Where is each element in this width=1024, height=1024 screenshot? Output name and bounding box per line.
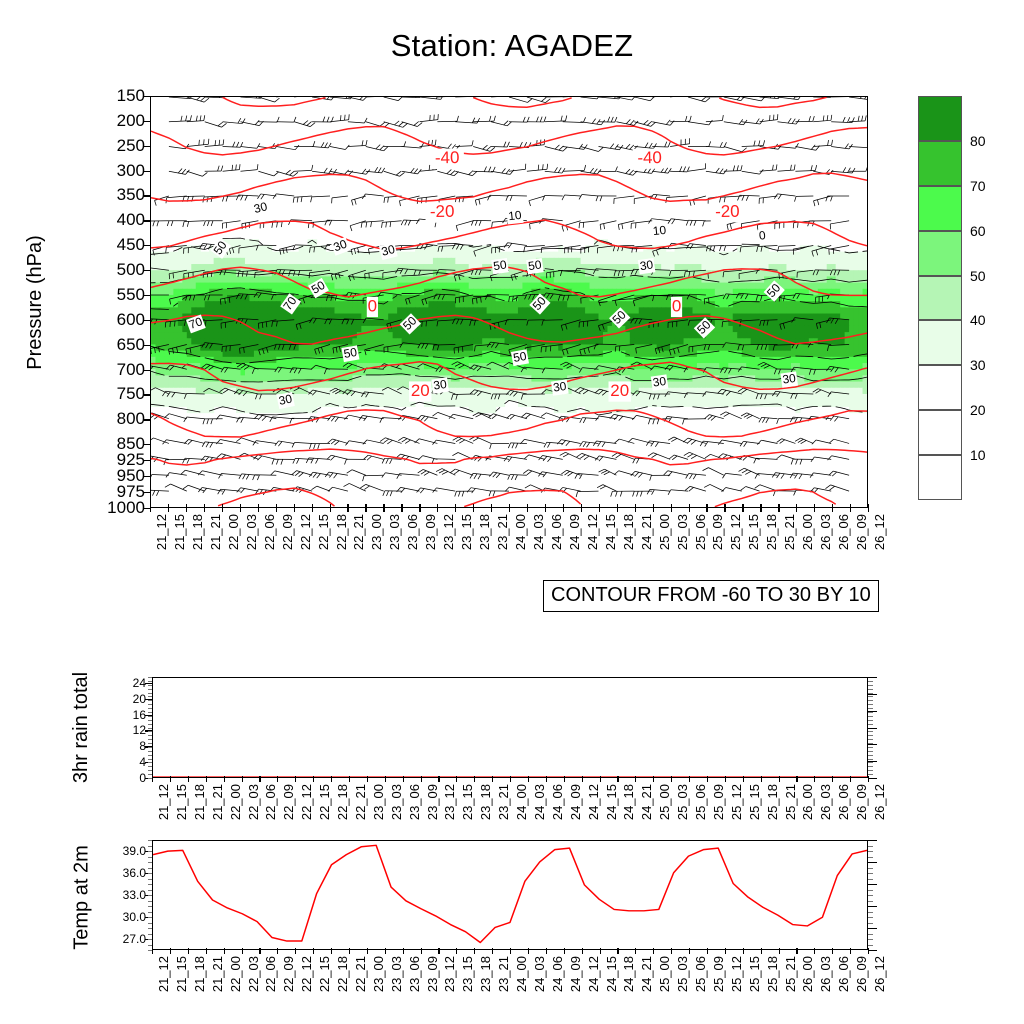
sub-xtick-mark [743, 948, 744, 954]
sub-minor-tick [148, 851, 152, 852]
xtick-label: 24_03 [532, 784, 547, 820]
main-xtick-mark [383, 504, 384, 512]
sub-xtick-mark [761, 948, 762, 954]
sub-xtick-mark [224, 948, 225, 954]
colorbar-band[interactable] [918, 96, 962, 141]
xtick-label: 25_03 [675, 784, 690, 820]
sub-xtick-mark [152, 948, 153, 954]
main-xtick-mark [742, 504, 743, 512]
xtick-label: 26_03 [818, 956, 833, 992]
xtick-label: 24_09 [568, 784, 583, 820]
xtick-label: 25_12 [728, 514, 743, 550]
xtick-label: 25_18 [765, 784, 780, 820]
xtick-label: 24_00 [514, 956, 529, 992]
main-xtick-mark [706, 504, 707, 512]
xtick-label: 24_15 [604, 956, 619, 992]
sub-minor-tick [148, 693, 152, 694]
main-xtick-mark [778, 504, 779, 512]
sub-xtick-mark [313, 948, 314, 954]
xtick-label: 26_09 [854, 956, 869, 992]
xtick-label: 24_03 [531, 514, 546, 550]
xtick-label: 22_03 [246, 956, 261, 992]
xtick-label: 23_09 [425, 784, 440, 820]
sub-xtick-mark [814, 776, 815, 782]
sub-minor-tick [148, 739, 152, 740]
sub-xtick-mark [725, 776, 726, 782]
sub-right-tick [868, 846, 873, 847]
sub-right-tick [868, 716, 873, 717]
sub-minor-tick [148, 708, 152, 709]
sub-minor-tick [148, 934, 152, 935]
xtick-label: 26_12 [872, 514, 887, 550]
sub-right-tick [868, 923, 873, 924]
xtick-label: 21_21 [208, 514, 223, 550]
main-xtick-mark [312, 504, 313, 512]
main-xtick-mark [419, 504, 420, 512]
main-xtick-mark [850, 504, 851, 512]
sub-right-tick [868, 912, 873, 913]
xtick-label: 25_21 [783, 956, 798, 992]
xtick-label: 26_00 [800, 784, 815, 820]
xtick-label: 22_12 [299, 956, 314, 992]
xtick-label: 21_15 [174, 956, 189, 992]
sub-minor-tick [148, 923, 152, 924]
sub-xtick-mark [528, 776, 529, 782]
sub-ytick-label: 8 [100, 739, 146, 753]
xtick-label: 25_21 [782, 514, 797, 550]
sub-right-tick [868, 840, 877, 841]
sub-xtick-mark [438, 948, 439, 954]
sub-minor-tick [148, 906, 152, 907]
sub-minor-tick [148, 766, 152, 767]
sub-xtick-mark [474, 776, 475, 782]
xtick-label: 25_15 [747, 956, 762, 992]
sub-right-tick [868, 728, 877, 729]
main-xtick-mark [671, 504, 672, 512]
sub-xtick-mark [689, 948, 690, 954]
sub-xtick-mark [796, 948, 797, 954]
main-ytick-mark [144, 444, 151, 445]
sub-minor-tick [148, 685, 152, 686]
main-xtick-mark [653, 504, 654, 512]
xtick-label: 24_09 [568, 956, 583, 992]
sub-minor-tick [148, 704, 152, 705]
sub-minor-tick [148, 747, 152, 748]
main-xtick-mark [491, 504, 492, 512]
main-ytick-mark [144, 195, 151, 196]
sub-right-tick [868, 759, 873, 760]
main-xtick-mark [760, 504, 761, 512]
sub-xtick-mark [295, 776, 296, 782]
colorbar-band[interactable] [918, 276, 962, 321]
sub-right-tick [868, 731, 873, 732]
sub-minor-tick [148, 728, 152, 729]
xtick-label: 23_09 [423, 514, 438, 550]
xtick-label: 23_06 [407, 784, 422, 820]
sub-xtick-mark [188, 948, 189, 954]
xtick-label: 23_03 [389, 784, 404, 820]
sub-minor-tick [148, 857, 152, 858]
main-xtick-mark [222, 504, 223, 512]
xtick-label: 25_03 [675, 514, 690, 550]
main-xtick-mark [240, 504, 241, 512]
xtick-label: 22_03 [246, 784, 261, 820]
xtick-label: 24_00 [514, 784, 529, 820]
xtick-label: 26_12 [872, 956, 887, 992]
sub-minor-tick [148, 720, 152, 721]
colorbar-band[interactable] [918, 186, 962, 231]
sub-minor-tick [148, 759, 152, 760]
sub-minor-tick [148, 743, 152, 744]
main-xtick-mark [689, 504, 690, 512]
sub-right-tick [868, 901, 873, 902]
colorbar[interactable]: 8070605040302010 [918, 96, 962, 500]
xtick-label: 24_12 [586, 956, 601, 992]
sub-right-tick [868, 884, 877, 885]
xtick-label: 25_18 [765, 956, 780, 992]
xtick-label: 22_06 [263, 784, 278, 820]
main-ytick-label: 550 [90, 285, 145, 305]
main-xtick-mark [150, 504, 151, 512]
colorbar-band[interactable] [918, 141, 962, 186]
xtick-label: 23_00 [369, 514, 384, 550]
xtick-label: 26_06 [836, 956, 851, 992]
sub-xtick-mark [367, 948, 368, 954]
xtick-label: 25_00 [657, 784, 672, 820]
sub-xtick-mark [367, 776, 368, 782]
sub-right-tick [868, 712, 873, 713]
sub-right-tick [868, 747, 873, 748]
colorbar-band[interactable] [918, 455, 962, 500]
xtick-label: 24_18 [621, 784, 636, 820]
main-ytick-mark [144, 419, 151, 420]
sub-xtick-mark [850, 776, 851, 782]
sub-right-tick [868, 857, 873, 858]
main-xtick-mark [796, 504, 797, 512]
sub-xtick-mark [546, 776, 547, 782]
sub-ytick-label: 0 [100, 771, 146, 785]
sub-xtick-mark [331, 948, 332, 954]
sub-minor-tick [148, 735, 152, 736]
main-ytick-mark [144, 476, 151, 477]
sub-right-tick [868, 762, 873, 763]
sub-xtick-mark [761, 776, 762, 782]
sub-right-tick [868, 685, 873, 686]
xtick-label: 24_03 [532, 956, 547, 992]
xtick-label: 23_12 [442, 784, 457, 820]
xtick-label: 23_18 [477, 514, 492, 550]
sub-minor-tick [148, 884, 152, 885]
sub-right-tick [868, 766, 873, 767]
xtick-label: 24_18 [621, 514, 636, 550]
xtick-label: 26_03 [818, 514, 833, 550]
sub-right-tick [868, 744, 877, 745]
main-ytick-label: 650 [90, 335, 145, 355]
xtick-label: 22_21 [351, 514, 366, 550]
sub-xtick-mark [832, 948, 833, 954]
main-ytick-mark [144, 320, 151, 321]
xtick-label: 22_12 [298, 514, 313, 550]
xtick-label: 21_12 [156, 956, 171, 992]
xtick-label: 24_00 [513, 514, 528, 550]
main-ytick-label: 400 [90, 210, 145, 230]
main-xtick-mark [724, 504, 725, 512]
main-ytick-label: 250 [90, 136, 145, 156]
colorbar-band[interactable] [918, 365, 962, 410]
main-xtick-mark [204, 504, 205, 512]
sub-minor-tick [148, 890, 152, 891]
sub-xtick-mark [313, 776, 314, 782]
xtick-label: 25_06 [693, 784, 708, 820]
sub-xtick-mark [206, 776, 207, 782]
sub-xtick-mark [403, 776, 404, 782]
cross-section-plot[interactable]: -40-40-20-200020201010030503030505030505… [150, 96, 868, 508]
xtick-label: 23_09 [425, 956, 440, 992]
sub-xtick-mark [170, 776, 171, 782]
sub-xtick-mark [564, 776, 565, 782]
xtick-label: 23_06 [407, 956, 422, 992]
xtick-label: 25_06 [693, 514, 708, 550]
sub-minor-tick [148, 873, 152, 874]
xtick-label: 24_21 [639, 956, 654, 992]
main-ytick-label: 350 [90, 185, 145, 205]
main-ytick-label: 500 [90, 260, 145, 280]
main-ytick-mark [144, 370, 151, 371]
sub-xtick-mark [385, 948, 386, 954]
temp-yaxis-label: Temp at 2m [71, 845, 94, 949]
sub-minor-tick [148, 862, 152, 863]
xtick-label: 25_15 [747, 784, 762, 820]
xtick-label: 26_03 [818, 784, 833, 820]
main-ytick-label: 700 [90, 360, 145, 380]
main-ytick-label: 150 [90, 86, 145, 106]
sub-xtick-mark [188, 776, 189, 782]
sub-right-tick [868, 724, 873, 725]
sub-right-tick [868, 917, 873, 918]
sub-minor-tick [148, 917, 152, 918]
sub-ytick-label: 36.0 [100, 866, 146, 880]
sub-ytick-label: 12 [100, 723, 146, 737]
sub-right-tick [868, 694, 877, 695]
sub-right-tick [868, 751, 873, 752]
temperature-canvas [153, 841, 867, 949]
xtick-label: 21_18 [192, 956, 207, 992]
xtick-label: 23_15 [460, 956, 475, 992]
main-xtick-mark [509, 504, 510, 512]
xtick-label: 23_12 [442, 956, 457, 992]
xtick-label: 21_12 [156, 784, 171, 820]
xtick-label: 23_06 [405, 514, 420, 550]
sub-xtick-mark [743, 776, 744, 782]
sub-xtick-mark [600, 776, 601, 782]
main-ytick-mark [144, 394, 151, 395]
xtick-label: 22_03 [244, 514, 259, 550]
xtick-label: 24_18 [621, 956, 636, 992]
temp-yaxis-title: Temp at 2m [70, 835, 94, 960]
main-ytick-mark [144, 121, 151, 122]
main-xtick-mark [455, 504, 456, 512]
sub-right-tick [868, 739, 873, 740]
sub-minor-tick [148, 751, 152, 752]
main-xtick-mark [563, 504, 564, 512]
sub-xtick-mark [474, 948, 475, 954]
colorbar-label: 80 [970, 133, 986, 149]
xtick-label: 23_15 [459, 514, 474, 550]
sub-minor-tick [148, 895, 152, 896]
sub-minor-tick [148, 712, 152, 713]
main-xtick-mark [868, 504, 869, 512]
main-xtick-mark [365, 504, 366, 512]
sub-xtick-mark [564, 948, 565, 954]
sub-minor-tick [148, 724, 152, 725]
sub-minor-tick [148, 879, 152, 880]
main-xtick-mark [168, 504, 169, 512]
main-ytick-label: 200 [90, 111, 145, 131]
sub-xtick-mark [850, 948, 851, 954]
main-xtick-mark [401, 504, 402, 512]
xtick-label: 22_00 [226, 514, 241, 550]
sub-xtick-mark [170, 948, 171, 954]
xtick-label: 25_12 [729, 956, 744, 992]
main-xtick-mark [814, 504, 815, 512]
xtick-label: 25_06 [693, 956, 708, 992]
sub-right-tick [868, 851, 873, 852]
sub-right-tick [868, 720, 873, 721]
xtick-label: 22_18 [335, 956, 350, 992]
xtick-label: 21_18 [190, 514, 205, 550]
colorbar-band[interactable] [918, 320, 962, 365]
sub-minor-tick [148, 716, 152, 717]
xtick-label: 25_09 [711, 784, 726, 820]
sub-xtick-mark [689, 776, 690, 782]
xtick-label: 25_03 [675, 956, 690, 992]
xtick-label: 26_06 [836, 784, 851, 820]
xtick-label: 25_18 [764, 514, 779, 550]
xtick-label: 22_15 [317, 784, 332, 820]
xtick-label: 23_21 [495, 514, 510, 550]
colorbar-label: 50 [970, 268, 986, 284]
xtick-label: 23_21 [496, 956, 511, 992]
sub-xtick-mark [707, 948, 708, 954]
sub-xtick-mark [868, 948, 869, 954]
main-ytick-mark [144, 245, 151, 246]
contour-legend-box: CONTOUR FROM -60 TO 30 BY 10 [543, 580, 879, 612]
sub-right-tick [868, 778, 877, 779]
sub-right-tick [868, 735, 873, 736]
sub-right-tick [868, 761, 877, 762]
xtick-label: 23_18 [478, 956, 493, 992]
xtick-label: 22_06 [262, 514, 277, 550]
sub-xtick-mark [707, 776, 708, 782]
temperature-plot[interactable] [152, 840, 868, 950]
sub-minor-tick [148, 774, 152, 775]
sub-minor-tick [148, 677, 152, 678]
cross-section-canvas: -40-40-20-200020201010030503030505030505… [151, 97, 867, 507]
sub-xtick-mark [725, 948, 726, 954]
main-ytick-mark [144, 295, 151, 296]
main-yaxis-label: Pressure (hPa) [24, 235, 47, 370]
colorbar-label: 60 [970, 223, 986, 239]
xtick-label: 23_12 [441, 514, 456, 550]
sub-ytick-label: 20 [100, 692, 146, 706]
sub-minor-tick [148, 928, 152, 929]
xtick-label: 23_00 [371, 956, 386, 992]
sub-xtick-mark [242, 948, 243, 954]
xtick-label: 24_06 [550, 784, 565, 820]
main-xtick-mark [186, 504, 187, 512]
main-ytick-mark [144, 220, 151, 221]
main-xtick-mark [832, 504, 833, 512]
main-ytick-mark [144, 345, 151, 346]
sub-xtick-mark [259, 948, 260, 954]
sub-xtick-mark [546, 948, 547, 954]
xtick-label: 23_18 [478, 784, 493, 820]
rain-yaxis-title: 3hr rain total [70, 650, 94, 805]
main-ytick-label: 300 [90, 161, 145, 181]
xtick-label: 24_15 [603, 514, 618, 550]
sub-xtick-mark [438, 776, 439, 782]
xtick-label: 24_21 [639, 514, 654, 550]
main-xaxis-ticks: 21_1221_1521_1821_2122_0022_0322_0622_09… [150, 512, 868, 582]
sub-xtick-mark [277, 776, 278, 782]
sub-minor-tick [148, 945, 152, 946]
sub-minor-tick [148, 912, 152, 913]
xtick-label: 25_12 [729, 784, 744, 820]
xtick-label: 24_06 [549, 514, 564, 550]
main-xtick-mark [473, 504, 474, 512]
xtick-label: 24_09 [567, 514, 582, 550]
xtick-label: 22_21 [353, 784, 368, 820]
xtick-label: 23_15 [460, 784, 475, 820]
sub-minor-tick [148, 868, 152, 869]
main-ytick-label: 800 [90, 409, 145, 429]
xtick-label: 22_09 [281, 784, 296, 820]
sub-xtick-mark [868, 776, 869, 782]
sub-xtick-mark [796, 776, 797, 782]
xtick-label: 25_09 [711, 956, 726, 992]
sub-xtick-mark [779, 948, 780, 954]
sub-right-tick [868, 708, 873, 709]
main-xtick-mark [276, 504, 277, 512]
sub-ytick-label: 39.0 [100, 844, 146, 858]
colorbar-band[interactable] [918, 231, 962, 276]
sub-xtick-mark [259, 776, 260, 782]
sub-xtick-mark [671, 776, 672, 782]
sub-xtick-mark [224, 776, 225, 782]
main-xtick-mark [330, 504, 331, 512]
rain-yaxis-label: 3hr rain total [71, 672, 94, 783]
sub-minor-tick [148, 901, 152, 902]
rain-plot[interactable] [152, 677, 868, 778]
main-xtick-mark [599, 504, 600, 512]
sub-xtick-mark [528, 948, 529, 954]
xtick-label: 21_18 [192, 784, 207, 820]
xtick-label: 22_18 [334, 514, 349, 550]
xtick-label: 22_12 [299, 784, 314, 820]
main-xtick-mark [437, 504, 438, 512]
sub-minor-tick [148, 696, 152, 697]
xtick-label: 21_21 [210, 956, 225, 992]
sub-ytick-label: 16 [100, 708, 146, 722]
xtick-label: 26_09 [854, 784, 869, 820]
sub-minor-tick [148, 689, 152, 690]
xtick-label: 23_21 [496, 784, 511, 820]
xtick-label: 25_21 [783, 784, 798, 820]
colorbar-band[interactable] [918, 410, 962, 455]
sub-xtick-mark [349, 948, 350, 954]
sub-right-tick [868, 755, 873, 756]
xtick-label: 25_00 [657, 514, 672, 550]
